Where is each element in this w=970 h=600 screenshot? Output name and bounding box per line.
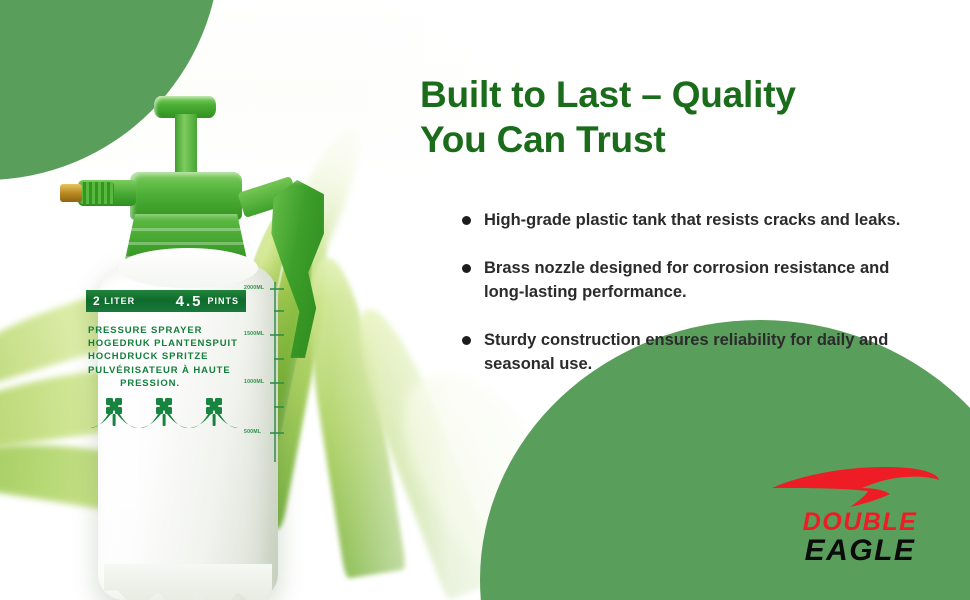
pressure-sprayer-product: 2 LITER 4.5 PINTS PRESSURE SPRAYER HOGED… bbox=[46, 96, 346, 600]
label-line: HOGEDRUK PLANTENSPUIT bbox=[88, 337, 256, 350]
scale-label: 1500ML bbox=[244, 331, 264, 337]
scale-spine bbox=[274, 282, 276, 462]
scale-tick bbox=[270, 334, 284, 336]
bullet-dot-icon bbox=[462, 264, 471, 273]
product-feature-banner: 2 LITER 4.5 PINTS PRESSURE SPRAYER HOGED… bbox=[0, 0, 970, 600]
scale-tick bbox=[270, 382, 284, 384]
label-line: HOCHDRUCK SPRITZE bbox=[88, 350, 256, 363]
label-flower-graphic bbox=[88, 392, 248, 432]
scale-label: 500ML bbox=[244, 429, 261, 435]
label-line: PULVÉRISATEUR À HAUTE bbox=[88, 364, 256, 377]
label-line: PRESSION. bbox=[88, 377, 256, 390]
volume-graduation-scale: 2000ML 1500ML 1000ML 500ML bbox=[244, 282, 290, 462]
feature-text: High-grade plastic tank that resists cra… bbox=[484, 208, 900, 232]
nozzle-threads bbox=[80, 182, 114, 204]
capacity-number: 2 bbox=[86, 294, 100, 308]
bottle-shoulder bbox=[118, 248, 258, 288]
scale-tick bbox=[270, 432, 284, 434]
headline-line-1: Built to Last – Quality bbox=[420, 72, 890, 117]
feature-text: Brass nozzle designed for corrosion resi… bbox=[484, 256, 914, 304]
feature-item: Brass nozzle designed for corrosion resi… bbox=[462, 256, 914, 304]
bullet-dot-icon bbox=[462, 216, 471, 225]
capacity-unit: LITER bbox=[100, 296, 135, 306]
brass-nozzle-tip bbox=[60, 184, 82, 202]
scale-label: 1000ML bbox=[244, 379, 264, 385]
feature-list: High-grade plastic tank that resists cra… bbox=[462, 208, 914, 400]
feature-item: High-grade plastic tank that resists cra… bbox=[462, 208, 914, 232]
brand-logo: DOUBLE EAGLE bbox=[758, 466, 948, 570]
pints-unit: PINTS bbox=[202, 296, 246, 306]
scale-tick bbox=[270, 288, 284, 290]
scale-label: 2000ML bbox=[244, 285, 264, 291]
pints-number: 4.5 bbox=[176, 293, 203, 310]
capacity-label-banner: 2 LITER 4.5 PINTS bbox=[86, 290, 246, 312]
feature-item: Sturdy construction ensures reliability … bbox=[462, 328, 914, 376]
scale-tick bbox=[274, 310, 284, 312]
feature-text: Sturdy construction ensures reliability … bbox=[484, 328, 914, 376]
headline: Built to Last – Quality You Can Trust bbox=[420, 72, 890, 162]
headline-line-2: You Can Trust bbox=[420, 117, 890, 162]
scale-tick bbox=[274, 358, 284, 360]
pump-shaft bbox=[175, 114, 197, 176]
scale-tick bbox=[274, 406, 284, 408]
logo-text-double: DOUBLE bbox=[772, 508, 948, 537]
product-label-text: PRESSURE SPRAYER HOGEDRUK PLANTENSPUIT H… bbox=[88, 324, 256, 390]
bottle-base bbox=[104, 564, 272, 600]
logo-text-eagle: EAGLE bbox=[772, 534, 948, 568]
bullet-dot-icon bbox=[462, 336, 471, 345]
label-line: PRESSURE SPRAYER bbox=[88, 324, 256, 337]
eagle-swoosh-icon bbox=[768, 466, 940, 510]
